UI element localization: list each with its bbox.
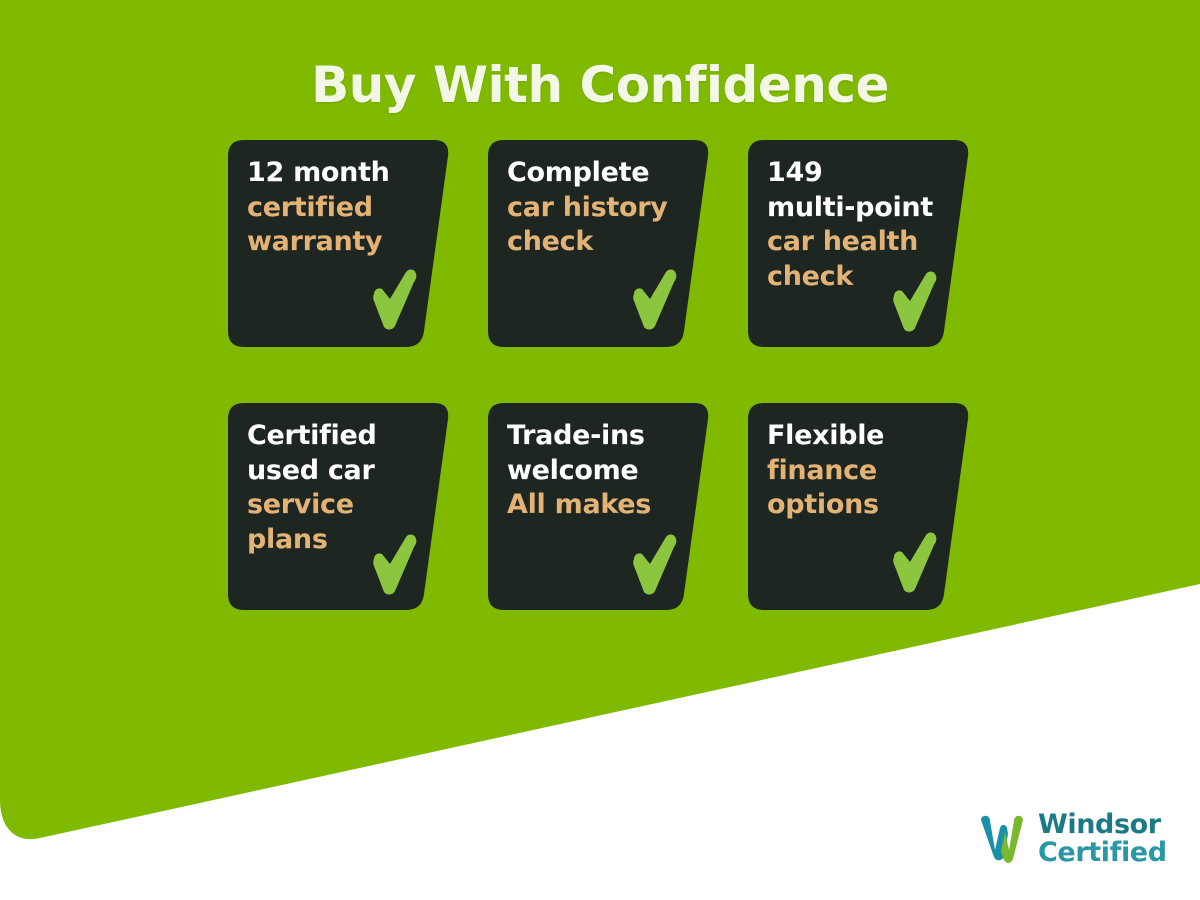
check-mark-icon — [628, 533, 680, 599]
brand-line-certified: Certified — [1038, 839, 1167, 867]
feature-card[interactable]: Complete car history check — [488, 140, 710, 347]
card-text: Trade-ins welcome All makes — [507, 419, 686, 523]
card-line: All makes — [507, 488, 686, 523]
card-line: car health — [767, 225, 946, 260]
card-text: Complete car history check — [507, 156, 686, 260]
card-line: used car — [247, 454, 426, 489]
feature-card[interactable]: Trade-ins welcome All makes — [488, 403, 710, 610]
feature-card-grid: 12 month certified warranty Complete car… — [228, 140, 988, 610]
card-line: 149 — [767, 156, 946, 191]
card-line: 12 month — [247, 156, 426, 191]
check-mark-icon — [888, 270, 940, 336]
windsor-w-logomark — [975, 812, 1029, 866]
card-line: Complete — [507, 156, 686, 191]
card-line: finance — [767, 454, 946, 489]
brand-line-windsor: Windsor — [1038, 811, 1167, 839]
card-line: warranty — [247, 225, 426, 260]
card-line: multi-point — [767, 191, 946, 226]
card-line: Trade-ins — [507, 419, 686, 454]
feature-card[interactable]: 12 month certified warranty — [228, 140, 450, 347]
card-line: Flexible — [767, 419, 946, 454]
check-mark-icon — [368, 268, 420, 334]
card-text: Flexible finance options — [767, 419, 946, 523]
check-mark-icon — [888, 531, 940, 597]
brand-logo[interactable]: Windsor Certified — [975, 806, 1165, 872]
poster-canvas: Buy With Confidence 12 month certified w… — [0, 0, 1200, 900]
page-title: Buy With Confidence — [0, 56, 1200, 114]
brand-wordmark: Windsor Certified — [1038, 811, 1167, 867]
card-line: check — [507, 225, 686, 260]
card-line: service — [247, 488, 426, 523]
card-line: options — [767, 488, 946, 523]
check-mark-icon — [628, 268, 680, 334]
feature-card[interactable]: Certified used car service plans — [228, 403, 450, 610]
card-text: 12 month certified warranty — [247, 156, 426, 260]
check-mark-icon — [368, 533, 420, 599]
feature-card[interactable]: 149 multi-point car health check — [748, 140, 970, 347]
card-line: car history — [507, 191, 686, 226]
card-line: certified — [247, 191, 426, 226]
card-line: Certified — [247, 419, 426, 454]
card-line: welcome — [507, 454, 686, 489]
feature-card[interactable]: Flexible finance options — [748, 403, 970, 610]
